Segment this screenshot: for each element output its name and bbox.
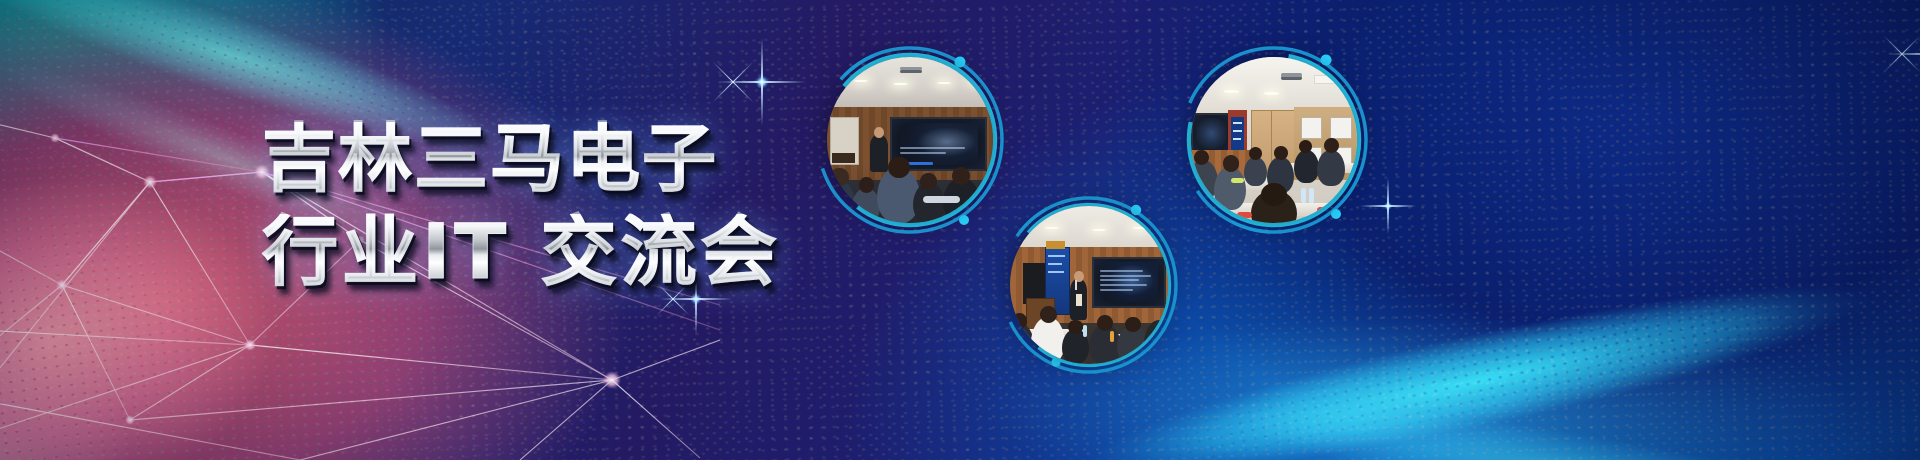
attendee <box>1317 150 1345 187</box>
photo-circle-1[interactable] <box>812 42 1008 238</box>
attendee <box>1214 167 1246 210</box>
photo-scene <box>827 57 993 223</box>
photo-circle-3[interactable] <box>1176 42 1372 238</box>
headline-line-1: 吉林三马电子 <box>262 122 802 196</box>
headline-block: 吉林三马电子 行业IT 交流会 <box>262 122 802 290</box>
attendee <box>1244 157 1267 187</box>
attendee <box>1144 320 1168 364</box>
photo-scene <box>1010 206 1168 364</box>
ceiling <box>827 57 993 107</box>
attendee <box>1294 150 1319 183</box>
display-screen <box>1191 113 1232 154</box>
ceiling-projector <box>1281 73 1303 77</box>
headline-line-2: 行业IT 交流会 <box>262 214 802 290</box>
photo-scene <box>1191 57 1357 223</box>
display-screen <box>1092 257 1166 308</box>
ceiling-projector <box>900 67 922 70</box>
conference-presentation-photo[interactable] <box>827 57 993 223</box>
photo-circle-2[interactable] <box>996 192 1182 378</box>
table <box>923 196 960 203</box>
attendee <box>852 188 880 223</box>
promo-banner: 吉林三马电子 行业IT 交流会 <box>0 0 1920 460</box>
seminar-audience-photo[interactable] <box>1010 206 1168 364</box>
ceiling <box>1010 206 1168 247</box>
meeting-room-attendees-photo[interactable] <box>1191 57 1357 223</box>
ceiling <box>1191 57 1357 110</box>
attendee <box>1031 317 1066 364</box>
